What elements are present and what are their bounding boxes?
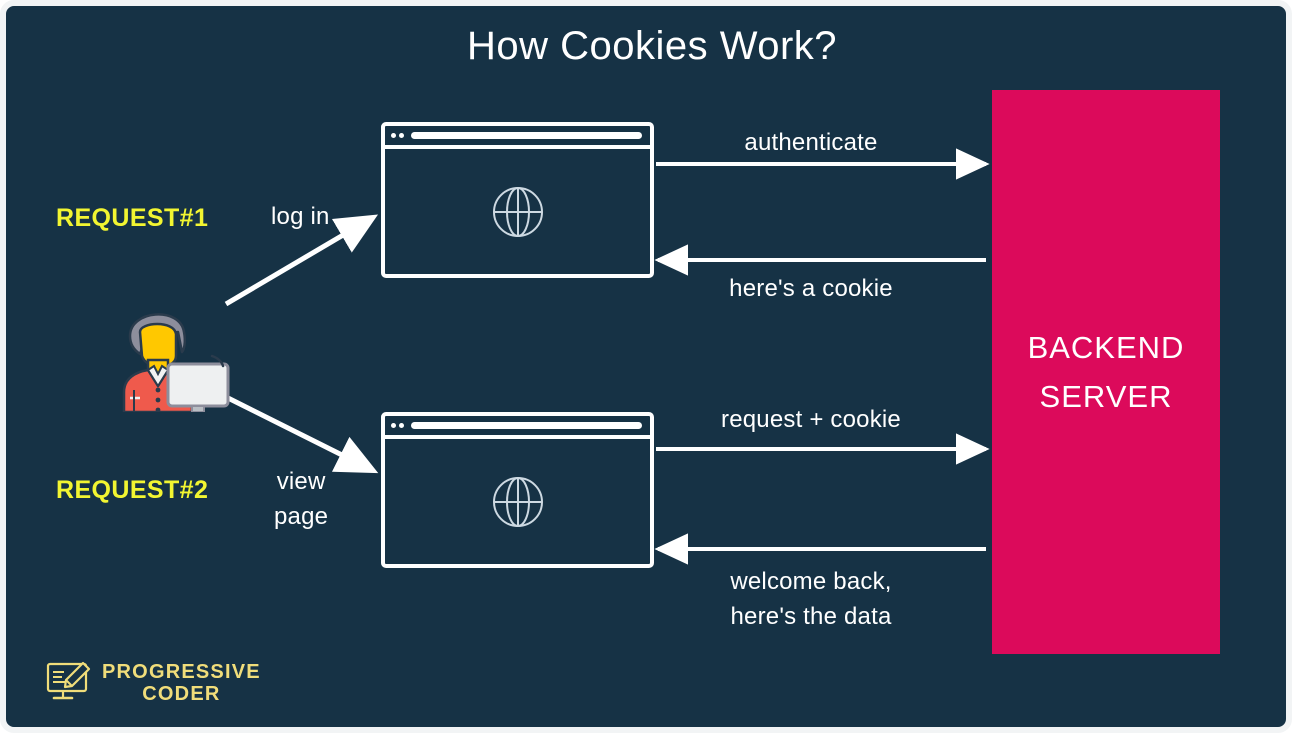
browser-window-2[interactable] — [381, 412, 654, 568]
welcome-line-2: here's the data — [730, 603, 891, 630]
diagram-canvas: How Cookies Work? REQUEST#1 REQUEST#2 lo… — [0, 0, 1292, 733]
browser-dot-icon — [399, 423, 404, 428]
globe-icon — [490, 474, 546, 530]
logo-line-1: PROGRESSIVE — [102, 661, 261, 683]
browser-dot-icon — [399, 133, 404, 138]
arrow-viewpage — [228, 398, 372, 470]
browser-1-viewport — [385, 149, 650, 274]
globe-icon — [490, 184, 546, 240]
backend-server-line-2: SERVER — [1040, 379, 1173, 414]
browser-dot-icon — [391, 133, 396, 138]
browser-dot-icon — [391, 423, 396, 428]
backend-server-line-1: BACKEND — [1028, 330, 1185, 365]
viewpage-edge-label: viewpage — [274, 464, 328, 534]
here-cookie-edge-label: here's a cookie — [646, 275, 976, 303]
browser-2-address-bar[interactable] — [411, 422, 642, 429]
backend-server-box: BACKEND SERVER — [992, 90, 1220, 654]
authenticate-edge-label: authenticate — [646, 129, 976, 157]
brand-logo: PROGRESSIVE CODER — [46, 661, 261, 705]
browser-window-1[interactable] — [381, 122, 654, 278]
request-cookie-edge-label: request + cookie — [646, 406, 976, 434]
logo-text: PROGRESSIVE CODER — [102, 661, 261, 705]
backend-server-label: BACKEND SERVER — [1028, 323, 1185, 421]
page-title: How Cookies Work? — [6, 24, 1292, 69]
welcome-line-1: welcome back, — [730, 568, 891, 595]
person-at-computer-icon — [106, 294, 230, 412]
browser-2-viewport — [385, 439, 650, 564]
browser-2-titlebar — [385, 416, 650, 439]
request-1-label: REQUEST#1 — [56, 204, 208, 233]
login-edge-label: log in — [271, 203, 330, 231]
request-2-label: REQUEST#2 — [56, 476, 208, 505]
browser-1-titlebar — [385, 126, 650, 149]
monitor-pencil-icon — [46, 661, 92, 705]
browser-1-address-bar[interactable] — [411, 132, 642, 139]
viewpage-line-1: view — [277, 468, 326, 495]
logo-line-2: CODER — [102, 683, 261, 705]
viewpage-line-2: page — [274, 503, 328, 530]
welcome-back-edge-label: welcome back,here's the data — [646, 564, 976, 634]
